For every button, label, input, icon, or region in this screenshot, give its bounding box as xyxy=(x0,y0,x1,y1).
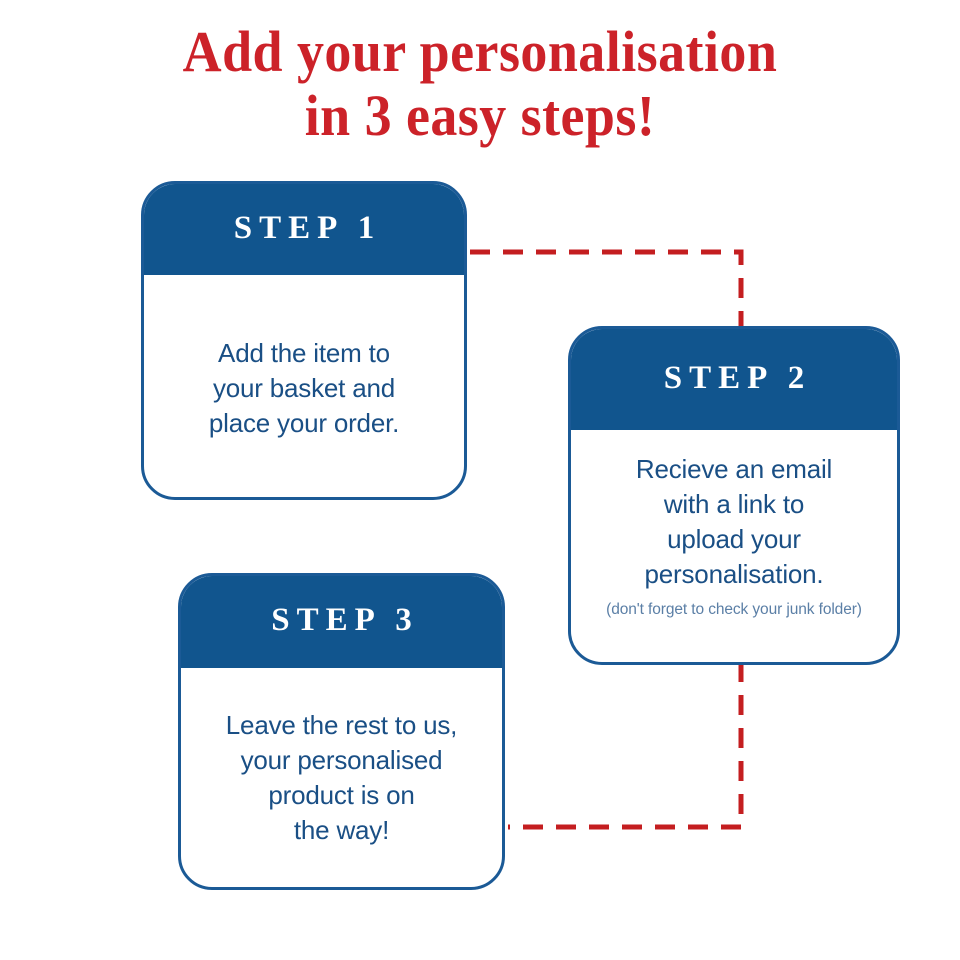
step-card-1-header: STEP 1 xyxy=(141,181,467,275)
infographic-canvas: Add your personalisation in 3 easy steps… xyxy=(0,0,960,960)
connector-step1-to-step2-path xyxy=(470,252,741,330)
step-card-1: STEP 1 Add the item to your basket and p… xyxy=(141,181,467,500)
step-card-2-body: Recieve an email with a link to upload y… xyxy=(571,430,897,662)
step-card-1-body: Add the item to your basket and place yo… xyxy=(144,275,464,497)
step-card-2-note: (don't forget to check your junk folder) xyxy=(606,601,862,619)
step-card-3-header: STEP 3 xyxy=(178,573,505,668)
step-card-3-text: Leave the rest to us, your personalised … xyxy=(226,708,457,848)
step-card-2: STEP 2 Recieve an email with a link to u… xyxy=(568,326,900,665)
page-title-line-2: in 3 easy steps! xyxy=(34,86,927,146)
connector-step2-to-step3-path xyxy=(508,662,741,827)
step-card-1-text: Add the item to your basket and place yo… xyxy=(209,336,399,441)
step-card-2-header: STEP 2 xyxy=(568,326,900,430)
step-card-3-body: Leave the rest to us, your personalised … xyxy=(181,668,502,887)
page-title-line-1: Add your personalisation xyxy=(34,22,927,82)
page-title: Add your personalisation in 3 easy steps… xyxy=(34,22,927,146)
step-card-3: STEP 3 Leave the rest to us, your person… xyxy=(178,573,505,890)
step-card-2-text: Recieve an email with a link to upload y… xyxy=(636,452,832,592)
